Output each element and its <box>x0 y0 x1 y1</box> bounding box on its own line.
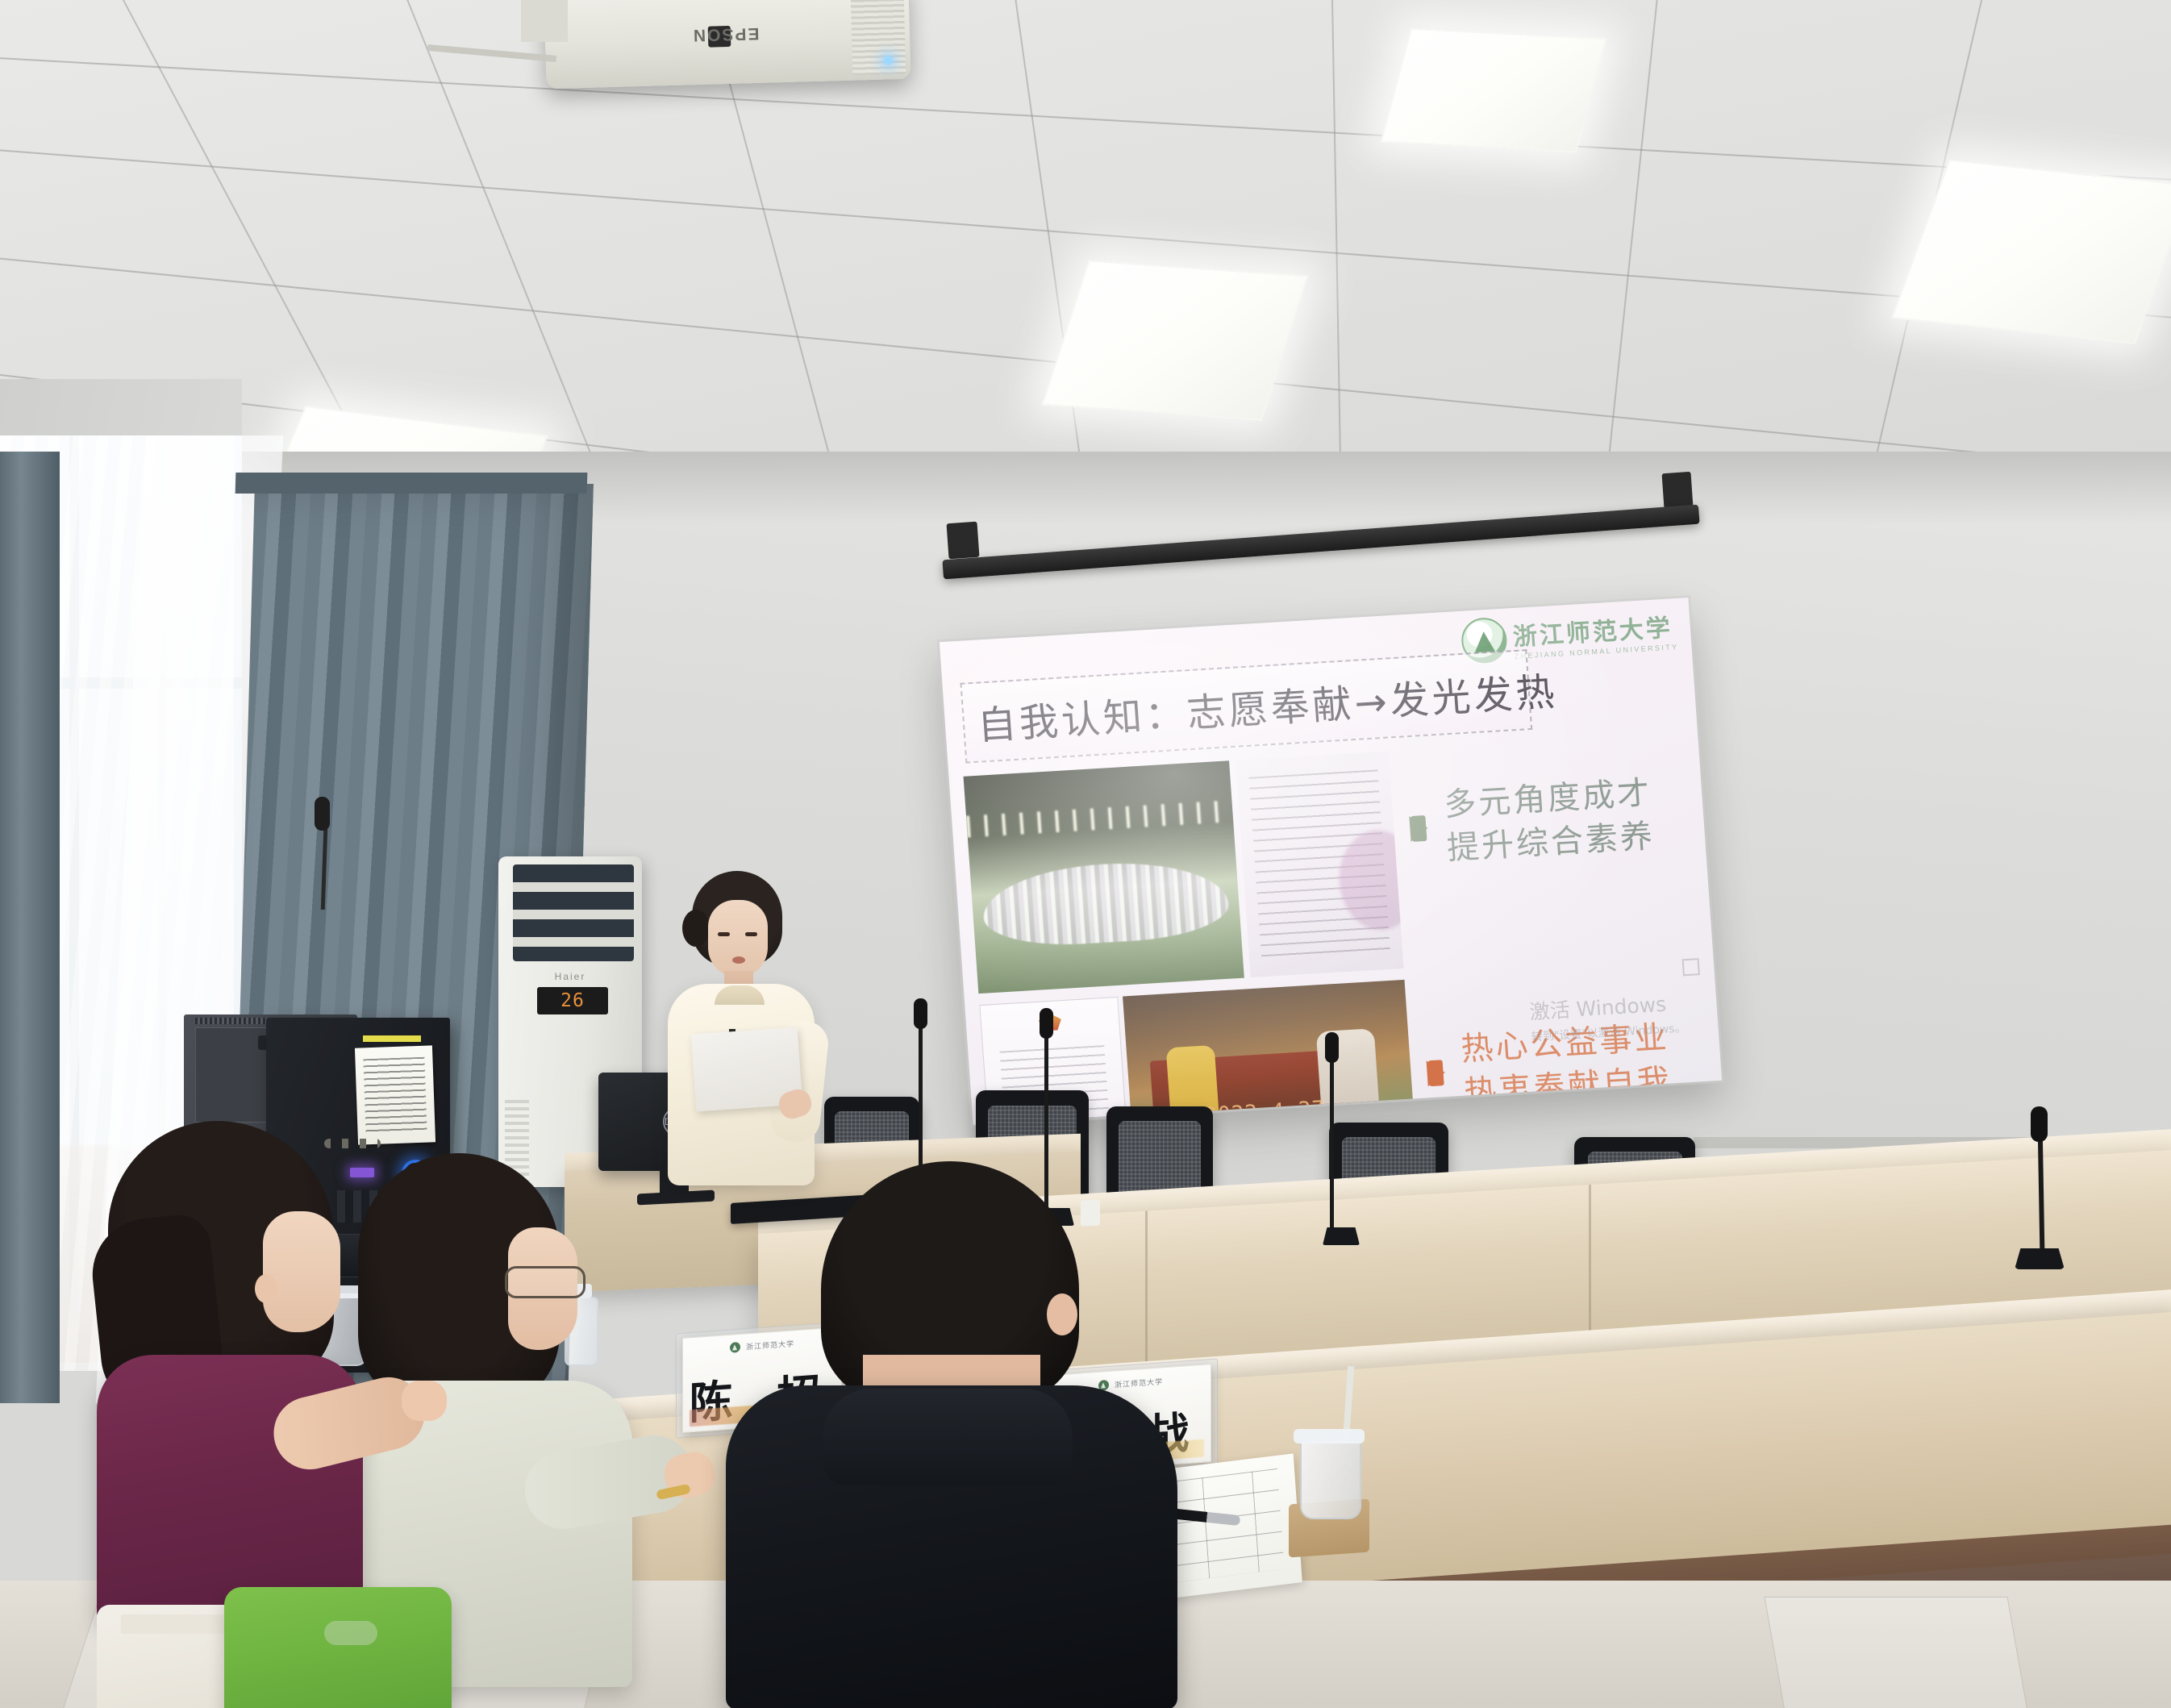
drink-cup <box>1300 1439 1361 1519</box>
table-microphone-head[interactable] <box>2031 1106 2048 1142</box>
slide-bullet-1: 多元角度成才 提升综合素养 <box>1407 771 1656 873</box>
rack-warning-label <box>363 1035 421 1042</box>
projector-ceiling-mount <box>521 0 568 42</box>
glasses-icon <box>505 1266 585 1298</box>
bullet-1-line-2: 提升综合素养 <box>1446 818 1656 867</box>
drink-cup-lid <box>1294 1429 1365 1443</box>
green-chair[interactable] <box>224 1587 452 1708</box>
windows-activation-watermark: 激活 Windows 转到"设置"以激活 Windows。 <box>1528 987 1686 1044</box>
ceiling-light-panel <box>1380 28 1607 153</box>
ceiling-light-panel <box>1891 159 2171 344</box>
meeting-room-photo: EPSON 浙江师范大学 ZHEJIANG NORMAL UNIVERSITY <box>0 0 2171 1708</box>
chair-handle-slot <box>324 1621 377 1645</box>
slide-title: 自我认知：志愿奉献→发光发热 <box>962 660 1559 751</box>
slide-photo-crowd <box>964 760 1244 994</box>
bullet-1-line-1: 多元角度成才 <box>1443 774 1653 823</box>
windows-watermark-icon <box>1682 958 1700 976</box>
arrow-bullet-icon <box>1427 1060 1446 1086</box>
watermark-title: 激活 Windows <box>1528 987 1685 1025</box>
screen-bracket-right <box>1662 472 1694 509</box>
slide-photo-document <box>1236 752 1404 978</box>
ac-display: 26 <box>537 987 608 1014</box>
presenter-mouth <box>732 956 745 964</box>
presenter-face <box>708 900 768 977</box>
curtain-left-edge <box>0 452 60 1403</box>
ac-vent-louvres <box>513 864 634 961</box>
attendee-right-person <box>726 1161 1194 1708</box>
attendee-ear <box>1047 1293 1077 1335</box>
ac-temperature-value: 26 <box>560 990 585 1011</box>
ac-brand-label: Haier <box>498 971 642 982</box>
attendee-jacket-collar <box>823 1389 1073 1485</box>
table-microphone-base <box>2015 1248 2065 1269</box>
slide-title-box: 自我认知：志愿奉献→发光发热 <box>960 649 1532 764</box>
ceiling-projector: EPSON <box>544 0 910 89</box>
presenter-eye-right <box>745 932 757 936</box>
projector-vent <box>850 0 906 76</box>
screen-bracket-left <box>947 522 980 560</box>
presenter-person <box>645 871 831 1194</box>
ceiling-light-panel <box>1041 260 1309 420</box>
attendee-ear <box>255 1274 277 1303</box>
projector-brand-label: EPSON <box>692 23 760 44</box>
podium-microphone-head <box>315 797 330 831</box>
presenter-hair-bun <box>682 910 710 947</box>
presenter-eye-left <box>718 932 730 936</box>
attendee-hand <box>402 1381 447 1421</box>
attendee-face <box>263 1211 340 1332</box>
curtain-rail <box>235 473 588 494</box>
slide-bullet-1-text: 多元角度成才 提升综合素养 <box>1443 771 1656 870</box>
arrow-bullet-icon <box>1409 815 1428 842</box>
